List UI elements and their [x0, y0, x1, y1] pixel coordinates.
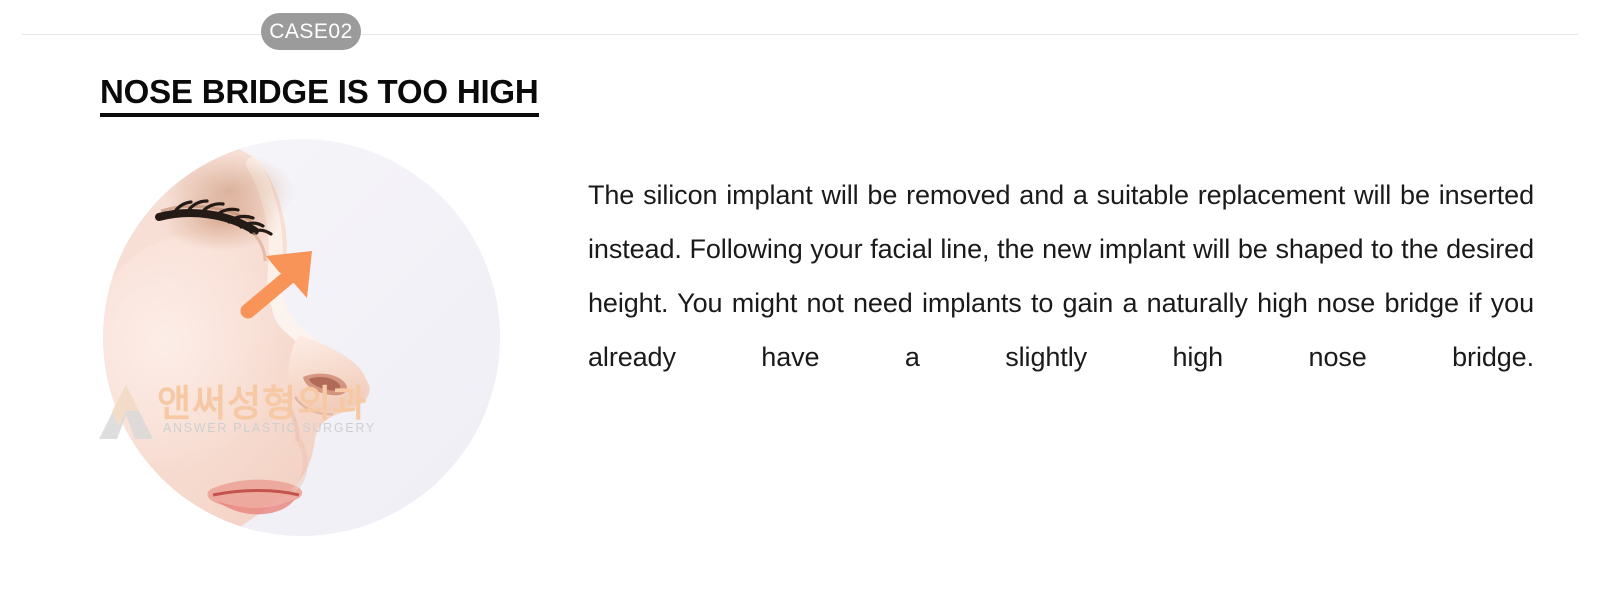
case-photo-circle [103, 139, 500, 536]
case-description: The silicon implant will be removed and … [588, 168, 1534, 438]
face-profile-illustration [103, 139, 500, 536]
case-photo [103, 139, 500, 536]
case-number-label: CASE02 [269, 21, 353, 43]
case-title: NOSE BRIDGE IS TOO HIGH [100, 73, 539, 117]
case-section: CASE02 NOSE BRIDGE IS TOO HIGH [0, 0, 1600, 600]
header-divider [22, 34, 1578, 35]
case-number-badge: CASE02 [261, 13, 361, 50]
